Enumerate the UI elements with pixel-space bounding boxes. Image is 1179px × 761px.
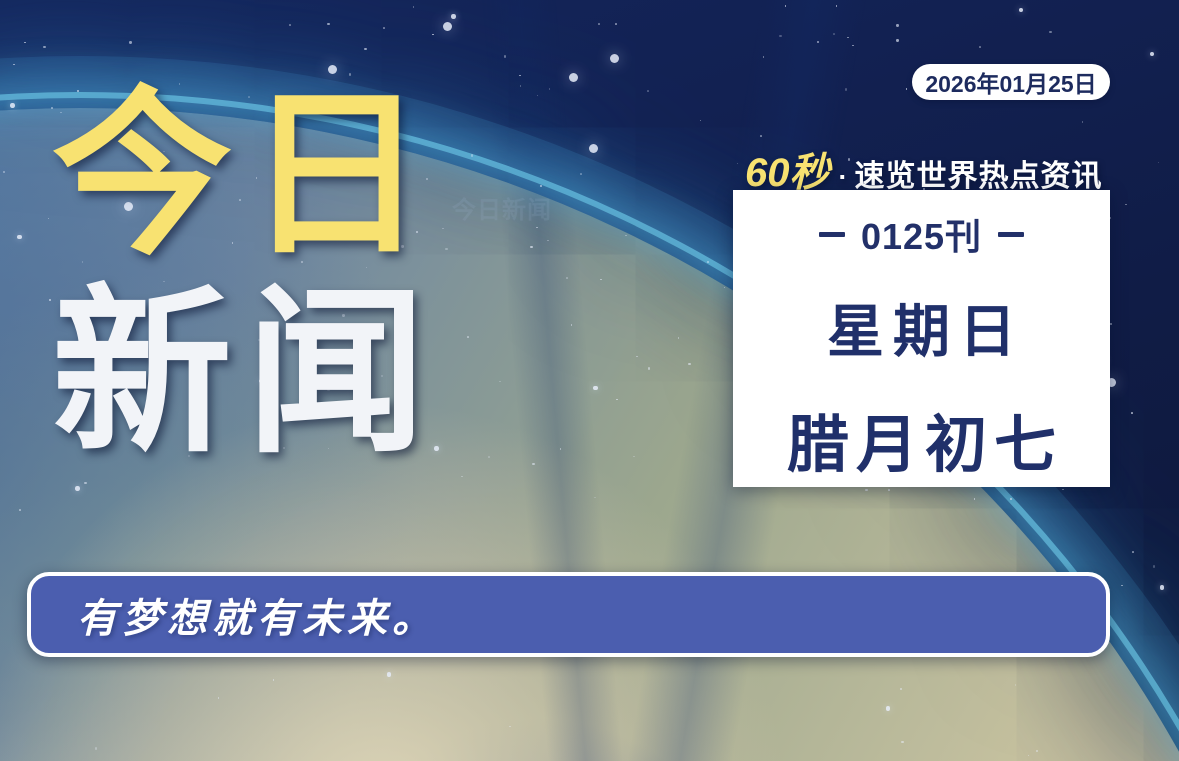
page-title: 今日 新闻 [52, 88, 440, 463]
info-card: 0125刊 星期日 腊月初七 [733, 190, 1110, 487]
issue-dash-left-icon [819, 232, 845, 237]
quote-banner: 有梦想就有未来。 [27, 572, 1110, 657]
title-line-xinwen: 新闻 [52, 286, 440, 462]
issue-label: 0125刊 [861, 208, 982, 260]
news-poster: 今日新闻 今日 新闻 2026年01月25日 60秒 · 速览世界热点资讯 01… [0, 0, 1179, 761]
date-badge: 2026年01月25日 [912, 64, 1110, 100]
title-line-jinri: 今日 [52, 88, 440, 264]
issue-dash-right-icon [998, 232, 1024, 237]
tagline-text: 速览世界热点资讯 [855, 151, 1103, 195]
tagline-separator: · [839, 162, 848, 193]
quote-text: 有梦想就有未来。 [77, 586, 437, 644]
lunar-date-label: 腊月初七 [780, 394, 1063, 484]
issue-row: 0125刊 [819, 208, 1024, 260]
weekday-label: 星期日 [818, 286, 1025, 368]
